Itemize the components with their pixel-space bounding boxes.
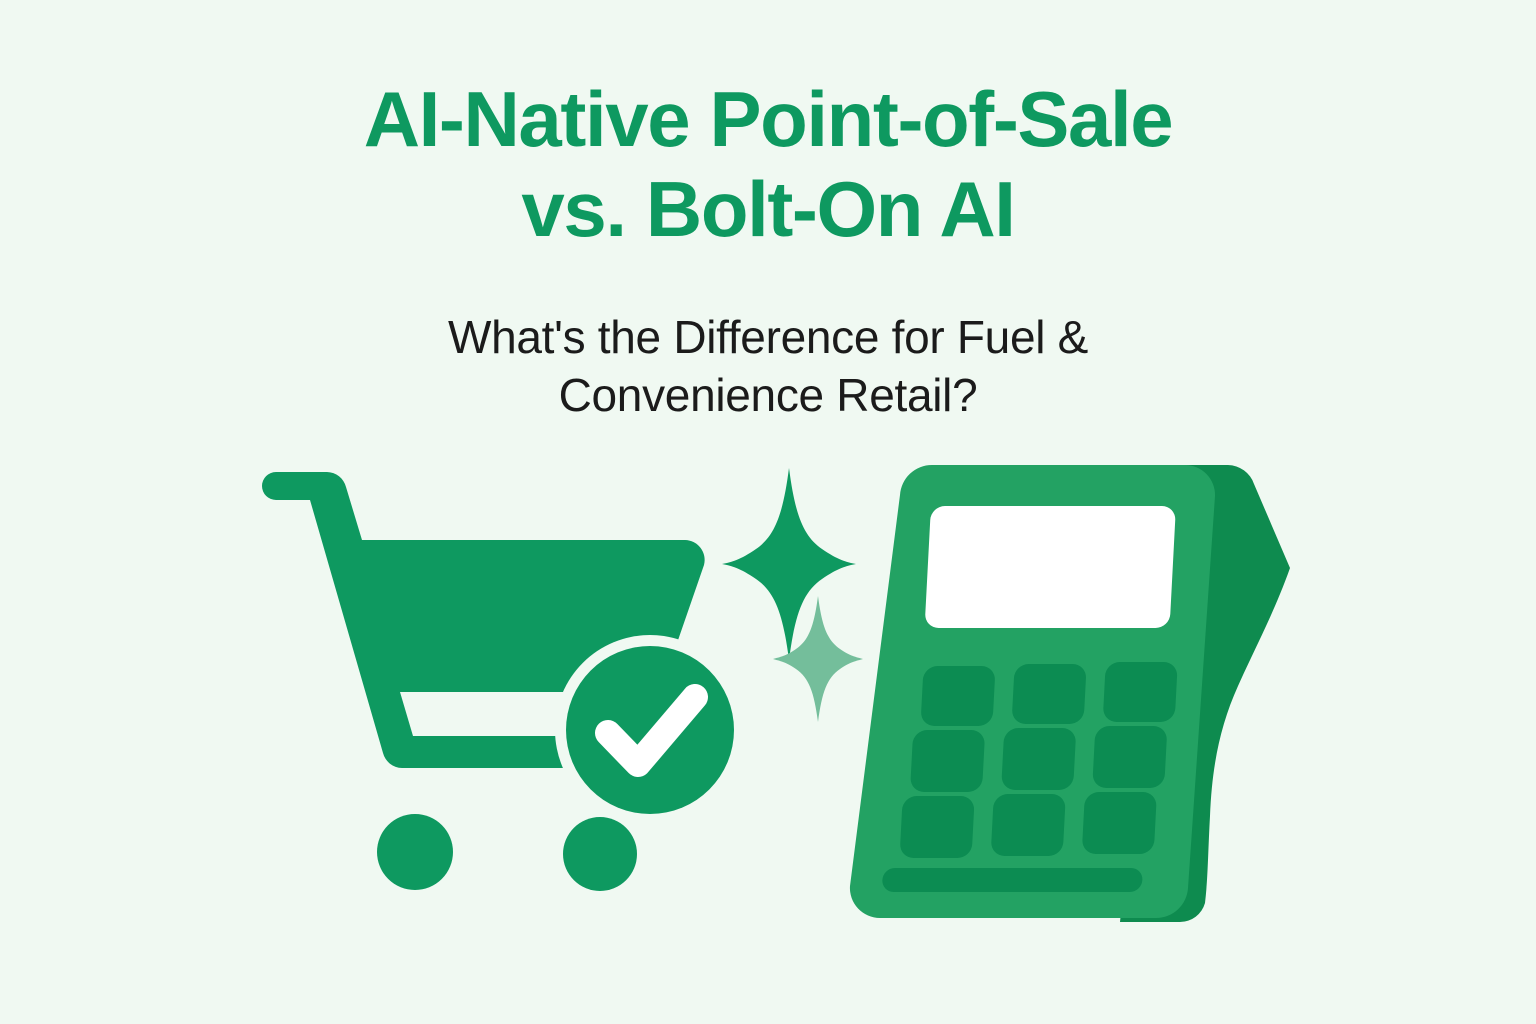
terminal-bottom-bar xyxy=(882,868,1143,892)
terminal-keypad xyxy=(900,662,1178,858)
illustration-area xyxy=(0,448,1536,968)
terminal-display-screen xyxy=(925,506,1176,628)
page-title: AI-Native Point-of-Sale vs. Bolt-On AI xyxy=(0,74,1536,255)
cart-wheel-left xyxy=(377,814,453,890)
title-block: AI-Native Point-of-Sale vs. Bolt-On AI xyxy=(0,74,1536,255)
shopping-cart-icon xyxy=(262,472,745,891)
page-subtitle: What's the Difference for Fuel & Conveni… xyxy=(0,308,1536,425)
illustration-svg xyxy=(0,448,1536,968)
subtitle-block: What's the Difference for Fuel & Conveni… xyxy=(0,308,1536,425)
terminal-key[interactable] xyxy=(910,730,985,792)
terminal-key[interactable] xyxy=(1082,792,1157,854)
terminal-key[interactable] xyxy=(1012,664,1087,724)
cart-wheel-right xyxy=(563,817,637,891)
terminal-key[interactable] xyxy=(991,794,1066,856)
terminal-key[interactable] xyxy=(920,666,995,726)
terminal-key[interactable] xyxy=(1092,726,1167,788)
terminal-key[interactable] xyxy=(1103,662,1178,722)
hero-banner: AI-Native Point-of-Sale vs. Bolt-On AI W… xyxy=(0,0,1536,1024)
sparkle-large-icon xyxy=(722,468,856,660)
terminal-key[interactable] xyxy=(1001,728,1076,790)
pos-terminal-icon xyxy=(850,465,1290,922)
terminal-key[interactable] xyxy=(900,796,975,858)
check-circle-badge-icon xyxy=(566,646,734,814)
